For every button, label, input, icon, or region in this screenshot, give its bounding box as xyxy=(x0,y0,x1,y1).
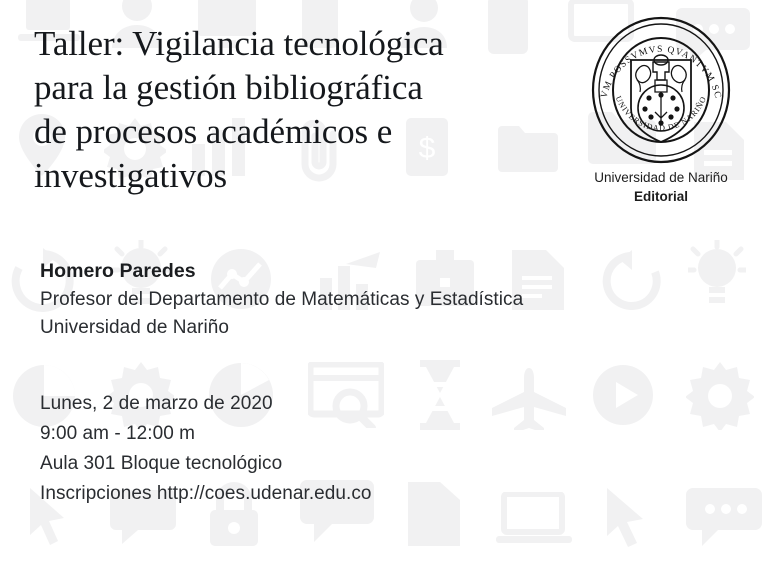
logo-block: TANTVM POSSVMVS QVANTVM SCIMVS UNIVERSID… xyxy=(561,16,761,206)
poster-canvas: $ xyxy=(0,0,765,570)
event-location: Aula 301 Bloque tecnológico xyxy=(40,453,660,475)
poster-content: Taller: Vigilancia tecnológica para la g… xyxy=(0,0,765,570)
event-registration: Inscripciones http://coes.udenar.edu.co xyxy=(40,483,660,505)
title-block: Taller: Vigilancia tecnológica para la g… xyxy=(34,22,554,198)
event-time: 9:00 am - 12:00 m xyxy=(40,423,660,445)
university-seal-icon: TANTVM POSSVMVS QVANTVM SCIMVS UNIVERSID… xyxy=(587,16,735,164)
event-date: Lunes, 2 de marzo de 2020 xyxy=(40,393,660,415)
speaker-role: Profesor del Departamento de Matemáticas… xyxy=(40,289,660,311)
speaker-block: Homero Paredes Profesor del Departamento… xyxy=(40,260,660,339)
event-details-block: Lunes, 2 de marzo de 2020 9:00 am - 12:0… xyxy=(40,393,660,505)
speaker-name: Homero Paredes xyxy=(40,260,660,283)
speaker-affiliation: Universidad de Nariño xyxy=(40,317,660,339)
page-title: Taller: Vigilancia tecnológica para la g… xyxy=(34,22,554,198)
logo-organization: Universidad de Nariño xyxy=(561,169,761,188)
logo-subtitle: Editorial xyxy=(561,188,761,207)
logo-caption: Universidad de Nariño Editorial xyxy=(561,169,761,206)
